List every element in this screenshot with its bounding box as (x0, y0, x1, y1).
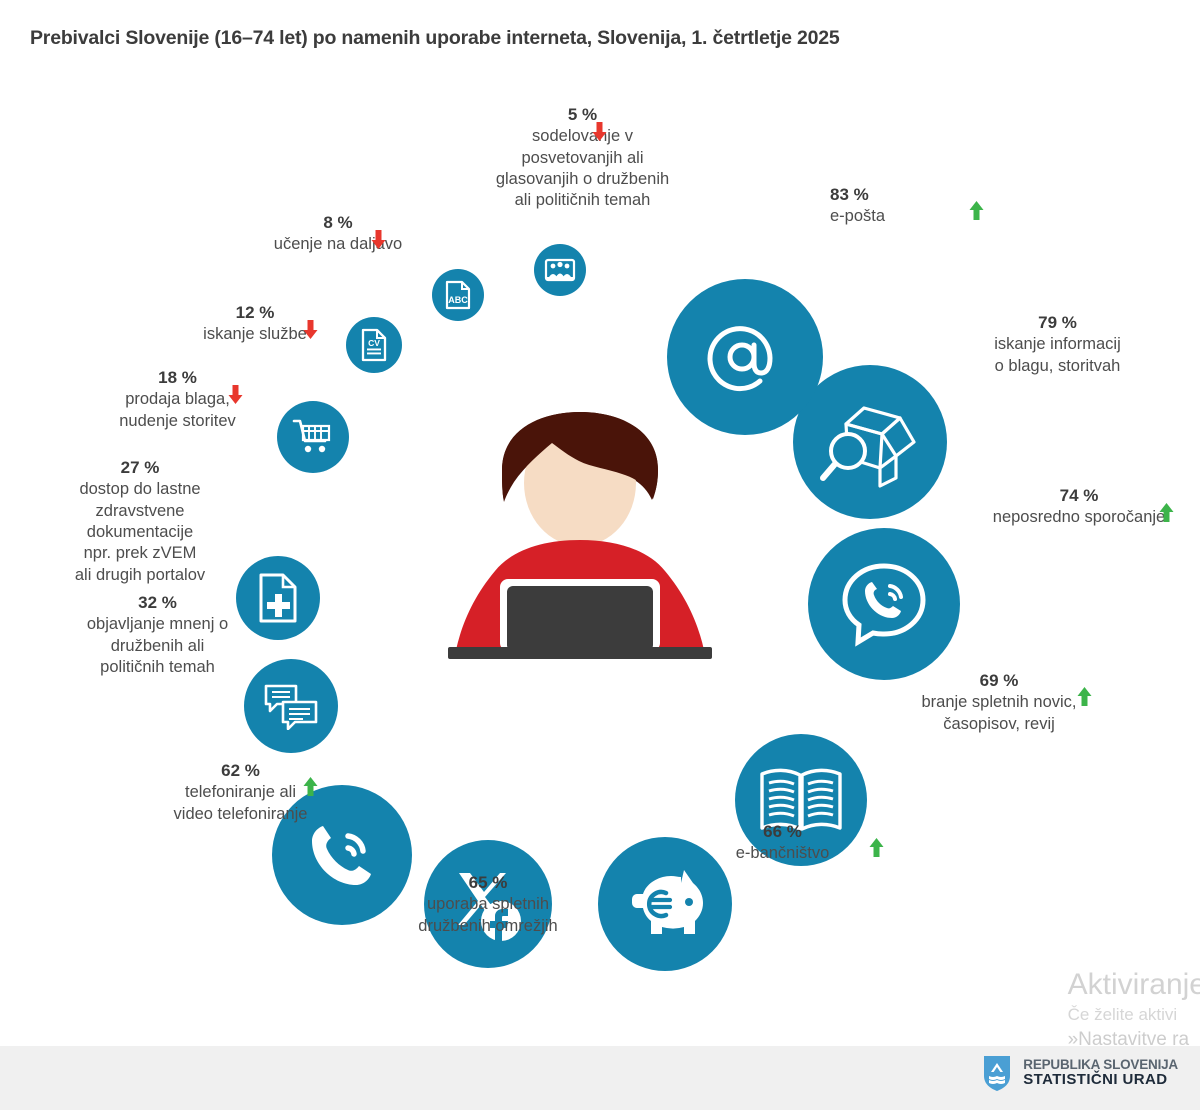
org-line-2: STATISTIČNI URAD (1023, 1072, 1178, 1089)
footer-branding: REPUBLIKA SLOVENIJA STATISTIČNI URAD (982, 1054, 1178, 1092)
bubble-cv-document-icon[interactable]: CV (346, 317, 402, 373)
bubble-at-sign-icon[interactable] (667, 279, 823, 435)
footer-bar: REPUBLIKA SLOVENIJA STATISTIČNI URAD (0, 1046, 1200, 1118)
abc-document-icon: ABC (443, 279, 473, 311)
svg-text:ABC: ABC (448, 295, 468, 305)
slovenia-crest-icon (982, 1054, 1012, 1092)
footer-bottom-strip (0, 1110, 1200, 1118)
label-elearning: 8 % učenje na daljavo (238, 212, 438, 256)
laptop-screen (507, 586, 653, 651)
text-elearning: učenje na daljavo (238, 234, 438, 255)
percent-health: 27 % (45, 457, 235, 479)
text-health: dostop do lastne zdravstvene dokumentaci… (45, 479, 235, 586)
text-consultations: sodelovanje v posvetovanjih ali glasovan… (440, 126, 725, 212)
watermark-line-2: Če želite aktivi (1068, 1003, 1200, 1028)
label-infosearch: 79 % iskanje informacij o blagu, storitv… (950, 312, 1165, 377)
laptop-base (448, 647, 712, 659)
chat-bubbles-icon (263, 682, 319, 730)
percent-banking: 66 % (705, 821, 860, 843)
central-person-illustration (440, 407, 720, 667)
label-social: 65 % uporaba spletnih družbenih omrežjih (378, 872, 598, 937)
percent-infosearch: 79 % (950, 312, 1165, 334)
text-social: uporaba spletnih družbenih omrežjih (378, 894, 598, 937)
infographic-canvas: ABC CV (0, 62, 1200, 1042)
percent-elearning: 8 % (238, 212, 438, 234)
page-title: Prebivalci Slovenije (16–74 let) po name… (30, 27, 840, 50)
at-sign-icon (699, 311, 791, 403)
piggy-bank-icon (623, 867, 707, 941)
message-phone-icon (836, 556, 932, 652)
label-health: 27 % dostop do lastne zdravstvene dokume… (45, 457, 235, 586)
text-infosearch: iskanje informacij o blagu, storitvah (950, 334, 1165, 377)
cv-document-icon: CV (358, 327, 390, 363)
label-banking: 66 % e-bančništvo (705, 821, 860, 865)
svg-text:CV: CV (368, 338, 380, 348)
windows-activation-watermark: Aktiviranje Če želite aktivi »Nastavitve… (1068, 968, 1200, 1052)
label-consultations: 5 % sodelovanje v posvetovanjih ali glas… (440, 104, 725, 212)
bubble-message-phone-icon[interactable] (808, 528, 960, 680)
infographic-page: Prebivalci Slovenije (16–74 let) po name… (0, 0, 1200, 1118)
percent-social: 65 % (378, 872, 598, 894)
text-opinions: objavljanje mnenj o družbenih ali politi… (45, 614, 270, 678)
watermark-line-1: Aktiviranje (1068, 968, 1200, 1001)
bubble-people-group-icon[interactable] (534, 244, 586, 296)
people-group-icon (543, 253, 577, 287)
percent-consultations: 5 % (440, 104, 725, 126)
bubble-abc-document-icon[interactable]: ABC (432, 269, 484, 321)
label-opinions: 32 % objavljanje mnenj o družbenih ali p… (45, 592, 270, 678)
phone-call-icon (301, 814, 383, 896)
shopping-cart-icon (292, 417, 334, 457)
text-banking: e-bančništvo (705, 843, 860, 864)
organisation-name: REPUBLIKA SLOVENIJA STATISTIČNI URAD (1023, 1057, 1178, 1089)
org-line-1: REPUBLIKA SLOVENIJA (1023, 1057, 1178, 1072)
search-package-icon (818, 394, 922, 490)
percent-opinions: 32 % (45, 592, 270, 614)
bubble-shopping-cart-icon[interactable] (277, 401, 349, 473)
